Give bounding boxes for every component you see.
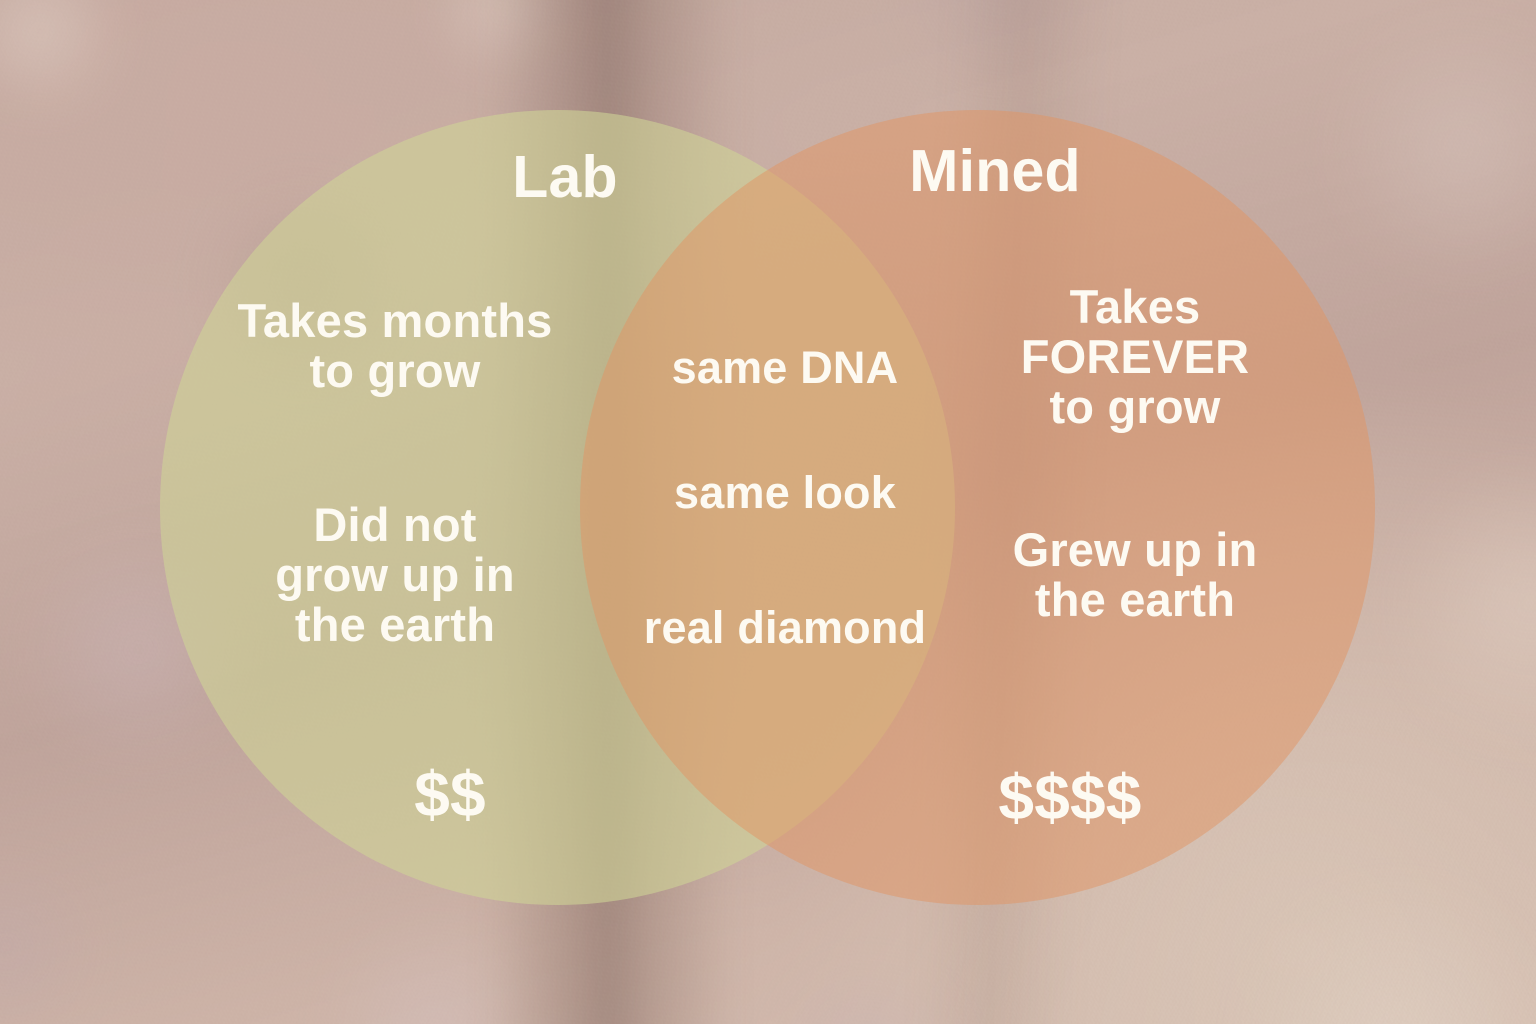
venn-title-lab: Lab bbox=[400, 148, 730, 207]
mined-item-1: Takes FOREVER to grow bbox=[960, 282, 1310, 431]
overlap-item-1: same DNA bbox=[620, 345, 950, 390]
venn-title-mined: Mined bbox=[820, 142, 1170, 201]
lab-item-1: Takes months to grow bbox=[200, 296, 590, 396]
venn-diagram-image: Lab Mined Takes months to grow Did not g… bbox=[0, 0, 1536, 1024]
mined-price: $$$$ bbox=[910, 765, 1230, 829]
overlap-item-2: same look bbox=[620, 470, 950, 515]
lab-item-2: Did not grow up in the earth bbox=[200, 500, 590, 649]
overlap-item-3: real diamond bbox=[600, 605, 970, 650]
lab-price: $$ bbox=[300, 762, 600, 826]
mined-item-2: Grew up in the earth bbox=[960, 525, 1310, 625]
